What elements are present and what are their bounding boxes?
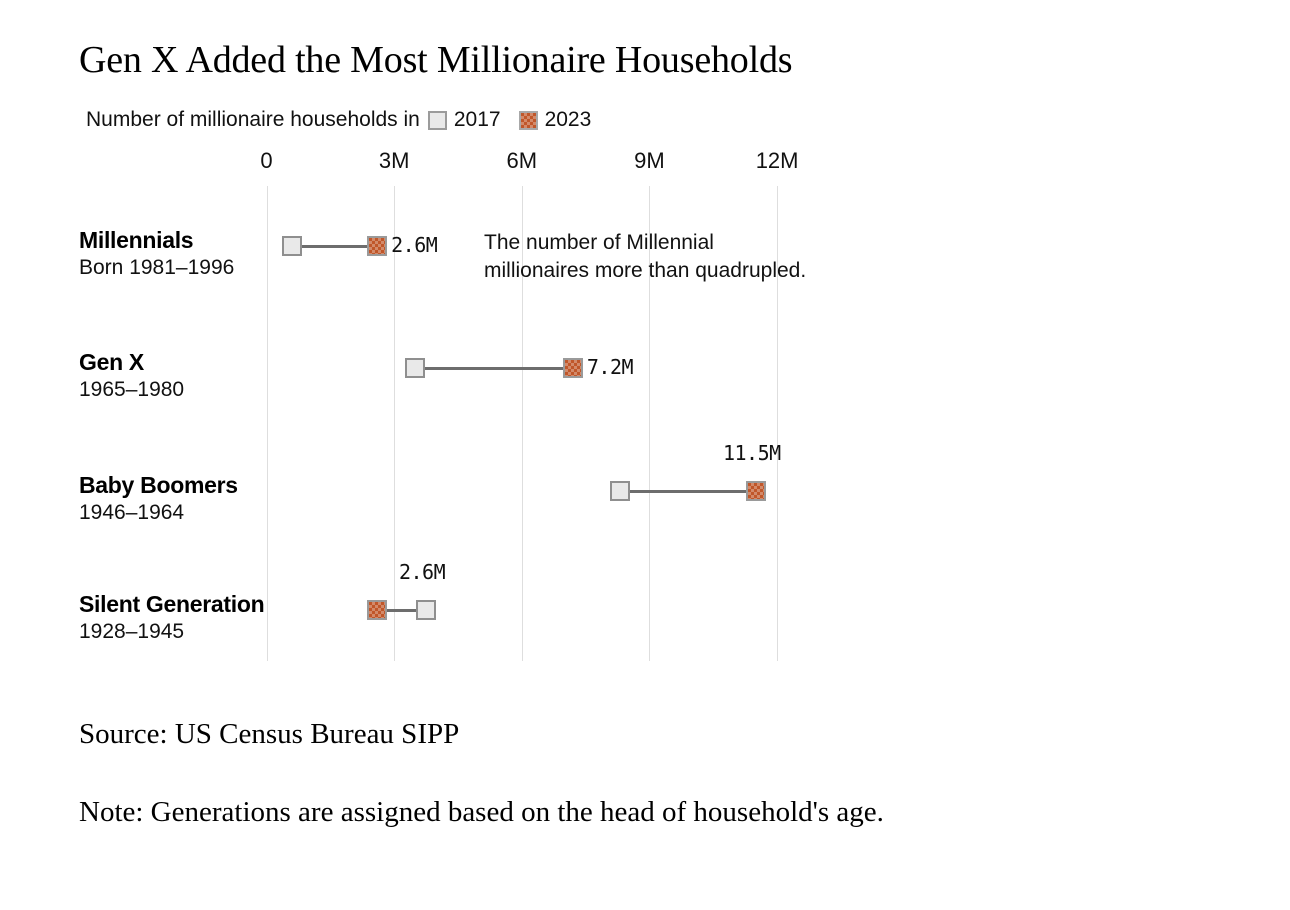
generation-years: 1965–1980 xyxy=(79,377,184,403)
generation-years: Born 1981–1996 xyxy=(79,255,234,281)
x-axis-tick-label: 12M xyxy=(756,148,799,174)
square-outline-gray-icon xyxy=(428,111,447,130)
data-value-label: 2.6M xyxy=(399,560,445,584)
dumbbell-connector xyxy=(620,490,756,493)
generation-years: 1946–1964 xyxy=(79,500,238,526)
generation-years: 1928–1945 xyxy=(79,619,264,645)
x-axis-tick-label: 3M xyxy=(379,148,410,174)
page-title: Gen X Added the Most Millionaire Househo… xyxy=(79,38,792,82)
source-note: Source: US Census Bureau SIPP xyxy=(79,715,459,753)
chart-row-label: Gen X1965–1980 xyxy=(79,350,184,403)
dumbbell-connector xyxy=(415,367,572,370)
legend-item-2023: 2023 xyxy=(519,108,592,132)
legend-description: Number of millionaire households in xyxy=(86,108,420,132)
gridline xyxy=(267,186,268,661)
data-value-label: 11.5M xyxy=(723,441,781,465)
marker-2017[interactable] xyxy=(405,358,425,378)
marker-2023[interactable] xyxy=(563,358,583,378)
marker-2023[interactable] xyxy=(367,236,387,256)
chart-row-label: Silent Generation1928–1945 xyxy=(79,592,264,645)
x-axis-tick-label: 6M xyxy=(507,148,538,174)
generation-name: Silent Generation xyxy=(79,592,264,616)
x-axis-tick-label: 9M xyxy=(634,148,665,174)
legend-label-2017: 2017 xyxy=(454,108,501,131)
generation-name: Baby Boomers xyxy=(79,473,238,497)
chart-plot-area: 03M6M9M12MMillennialsBorn 1981–19962.6MG… xyxy=(0,0,1290,910)
chart-annotation: The number of Millennial millionaires mo… xyxy=(484,229,814,285)
legend-label-2023: 2023 xyxy=(545,108,592,131)
generation-name: Gen X xyxy=(79,350,184,374)
methodology-note: Note: Generations are assigned based on … xyxy=(79,793,1189,831)
marker-2017[interactable] xyxy=(416,600,436,620)
marker-2023[interactable] xyxy=(746,481,766,501)
legend-item-2017: 2017 xyxy=(428,108,501,132)
data-value-label: 7.2M xyxy=(587,355,633,379)
square-filled-orange-icon xyxy=(519,111,538,130)
chart-row-label: MillennialsBorn 1981–1996 xyxy=(79,228,234,281)
x-axis-tick-label: 0 xyxy=(260,148,272,174)
data-value-label: 2.6M xyxy=(391,233,437,257)
generation-name: Millennials xyxy=(79,228,234,252)
chart-legend: Number of millionaire households in 2017… xyxy=(86,108,591,132)
marker-2017[interactable] xyxy=(282,236,302,256)
dumbbell-connector xyxy=(377,609,426,612)
marker-2017[interactable] xyxy=(610,481,630,501)
dumbbell-connector xyxy=(292,245,377,248)
gridline xyxy=(394,186,395,661)
chart-row-label: Baby Boomers1946–1964 xyxy=(79,473,238,526)
marker-2023[interactable] xyxy=(367,600,387,620)
